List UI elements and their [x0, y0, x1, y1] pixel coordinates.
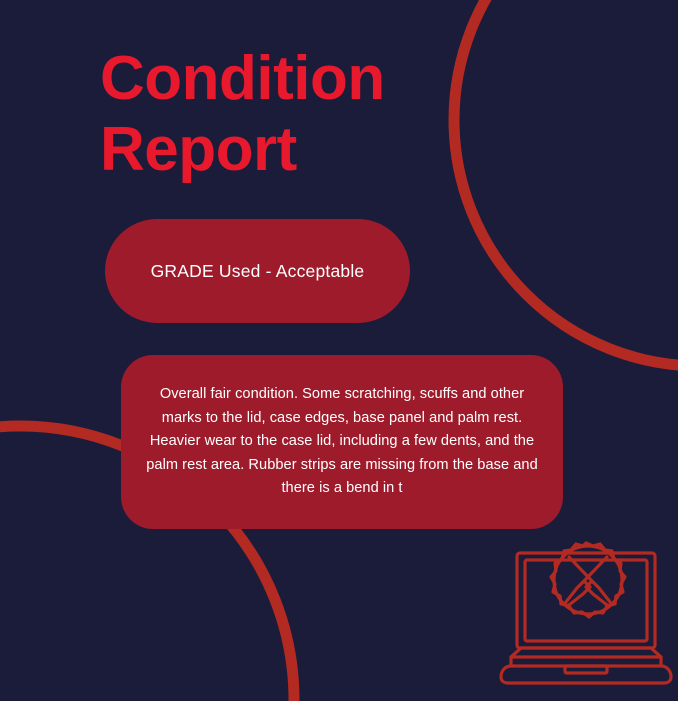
grade-badge: GRADE Used - Acceptable	[105, 219, 410, 323]
screwdriver-two-handle	[565, 581, 590, 606]
laptop-screen-inner	[525, 560, 647, 641]
condition-description-text: Overall fair condition. Some scratching,…	[143, 383, 541, 501]
laptop-screen-outer	[517, 553, 655, 648]
page-title: Condition Report	[100, 44, 480, 185]
crossed-screwdrivers-icon	[565, 557, 610, 606]
laptop-trackpad	[565, 666, 607, 673]
grade-badge-label: GRADE Used - Acceptable	[151, 261, 365, 282]
condition-description-card: Overall fair condition. Some scratching,…	[121, 355, 563, 529]
laptop-base	[511, 648, 661, 657]
laptop-repair-icon	[495, 535, 677, 695]
arc-top-right	[454, 0, 678, 366]
condition-report-page: Condition Report GRADE Used - Acceptable…	[0, 0, 678, 701]
